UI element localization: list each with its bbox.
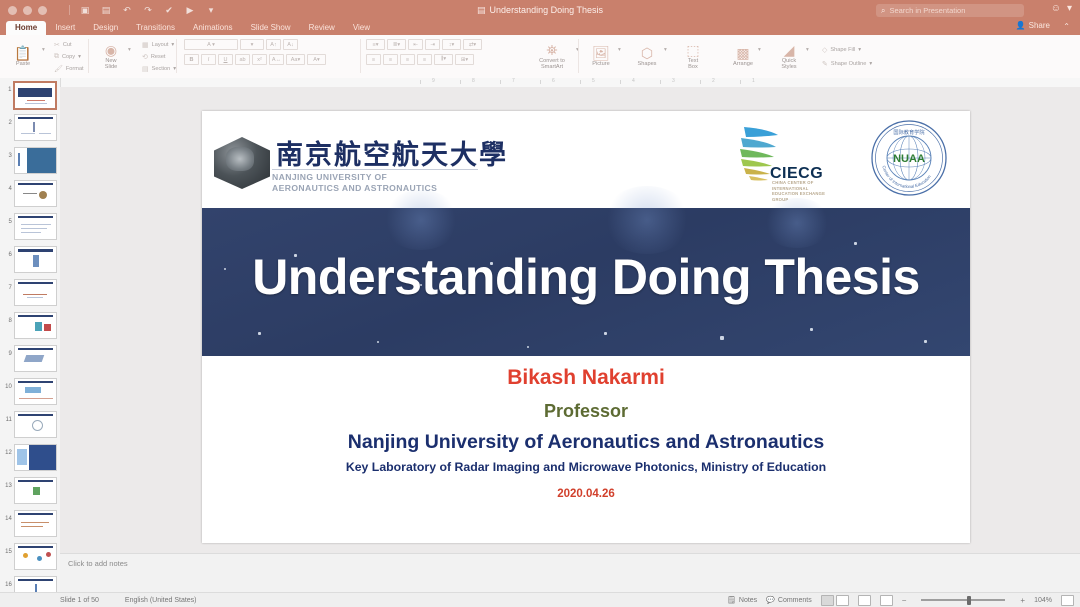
bullets-button[interactable]: ≡▾ — [366, 39, 385, 50]
ribbon-group-slides: ◉ New Slide ▾ ▦ Layout▾ ⟲ Reset ▤ Sectio… — [94, 35, 176, 78]
arrange-label: Arrange — [733, 61, 753, 67]
slide-thumbnail[interactable] — [14, 543, 57, 570]
slide-number: 1 — [3, 81, 11, 93]
format-painter-icon[interactable]: ✔ — [163, 4, 175, 16]
arrange-icon: ▩ — [736, 46, 749, 60]
arrange-button[interactable]: ▩ Arrange — [726, 46, 760, 67]
slide-thumbnail[interactable] — [14, 147, 57, 174]
powerpoint-window: ▣ ▤ ↶ ↷ ✔ ▶ ▾ ▤ Understanding Doing Thes… — [0, 0, 1080, 607]
tab-design[interactable]: Design — [84, 21, 127, 35]
slide-sorter-view-button[interactable] — [836, 595, 849, 606]
pen-icon: ✎ — [822, 60, 828, 68]
svg-text:国际教育学院: 国际教育学院 — [893, 128, 925, 136]
slide-title-banner: Understanding Doing Thesis — [202, 208, 970, 356]
ribbon-group-font: A ▾ ▾ A↑ A↓ B I U ab x² A↔ Aa▾ A▾ — [182, 39, 326, 75]
svg-text:NUAA: NUAA — [893, 153, 925, 165]
slide-number: 7 — [3, 279, 12, 291]
format-painter-button[interactable]: 🖌 Format — [54, 65, 84, 73]
character-spacing-button[interactable]: A↔ — [269, 54, 284, 65]
zoom-icon[interactable] — [38, 6, 47, 15]
shapes-button[interactable]: ⬡ Shapes — [630, 46, 664, 67]
zoom-level[interactable]: 104% — [1034, 597, 1052, 604]
document-title: Understanding Doing Thesis — [490, 5, 603, 15]
slide-thumbnail[interactable] — [14, 576, 57, 592]
slide-thumbnail[interactable] — [13, 81, 57, 110]
slide-number: 11 — [3, 411, 12, 423]
presentation-date: 2020.04.26 — [202, 488, 970, 500]
font-color-button[interactable]: A▾ — [307, 54, 326, 65]
author-role: Professor — [202, 401, 970, 422]
shapes-label: Shapes — [638, 61, 657, 67]
new-slide-button[interactable]: ◉ New Slide — [94, 43, 128, 71]
picture-dropdown-icon[interactable]: ▾ — [618, 47, 621, 53]
ribbon-body: 📋 Paste ▾ ✂ Cut ⧉ Copy▾ 🖌 Format — [0, 35, 1080, 79]
divider — [176, 39, 177, 73]
reading-view-button[interactable] — [858, 595, 871, 606]
ribbon-group-smartart: ⛯ Convert to SmartArt ▾ — [530, 35, 574, 78]
normal-view-button[interactable] — [821, 595, 834, 606]
tab-home[interactable]: Home — [6, 21, 46, 35]
reset-button[interactable]: ⟲ Reset — [142, 53, 176, 61]
decrease-indent-button[interactable]: ⇤ — [408, 39, 423, 50]
nuaa-english-line1: NANJING UNIVERSITY OF — [272, 172, 437, 183]
comments-label: Comments — [778, 597, 812, 604]
slide-author-block: Bikash Nakarmi Professor Nanjing Univers… — [202, 366, 970, 500]
share-icon: 👤 — [1016, 21, 1026, 30]
zoom-handle[interactable] — [967, 596, 971, 605]
zoom-in-button[interactable]: + — [1020, 596, 1025, 605]
text-box-button[interactable]: ⬚ Text Box — [676, 43, 710, 71]
slide-number: 15 — [3, 543, 12, 555]
list-item[interactable]: 5 — [0, 210, 60, 243]
slide-thumbnail[interactable] — [14, 246, 57, 273]
window-controls[interactable] — [8, 6, 47, 15]
divider — [360, 39, 361, 73]
brush-icon: 🖌 — [54, 65, 63, 73]
quick-styles-button[interactable]: ◢ Quick Styles — [772, 43, 806, 71]
slide-thumbnail[interactable] — [14, 411, 57, 438]
slide-canvas[interactable]: 南京航空航天大學 NANJING UNIVERSITY OF AERONAUTI… — [60, 87, 1080, 553]
font-size-select[interactable]: ▾ — [240, 39, 264, 50]
slide-thumbnail[interactable] — [14, 444, 57, 471]
slide-logo-header: 南京航空航天大學 NANJING UNIVERSITY OF AERONAUTI… — [202, 111, 970, 208]
fill-bucket-icon: ◇ — [822, 46, 827, 54]
list-item[interactable]: 4 — [0, 177, 60, 210]
list-item[interactable]: 6 — [0, 243, 60, 276]
presentation-icon: ▤ — [477, 5, 486, 16]
slide-number: 12 — [3, 444, 12, 456]
notes-label: Notes — [739, 597, 757, 604]
quick-styles-dropdown-icon[interactable]: ▾ — [806, 47, 809, 53]
underline-button[interactable]: U — [218, 54, 233, 65]
shape-fill-button[interactable]: ◇ Shape Fill▾ — [822, 46, 872, 54]
list-item[interactable]: 8 — [0, 309, 60, 342]
slide-number: 5 — [3, 213, 12, 225]
layout-icon: ▦ — [142, 41, 149, 49]
copy-button[interactable]: ⧉ Copy▾ — [54, 53, 84, 61]
columns-button[interactable]: ⫼▾ — [434, 54, 453, 65]
customize-icon[interactable]: ▾ — [205, 4, 217, 16]
account-icon[interactable]: ☺ — [1051, 3, 1061, 14]
strikethrough-button[interactable]: ab — [235, 54, 250, 65]
picture-icon: 🖼 — [592, 46, 610, 60]
share-label: Share — [1029, 21, 1050, 30]
author-university: Nanjing University of Aeronautics and As… — [202, 431, 970, 454]
divider — [69, 5, 70, 15]
quick-styles-label: Quick Styles — [781, 58, 796, 71]
cut-button[interactable]: ✂ Cut — [54, 41, 84, 49]
title-bar: ▣ ▤ ↶ ↷ ✔ ▶ ▾ ▤ Understanding Doing Thes… — [0, 0, 1080, 20]
bold-button[interactable]: B — [184, 54, 199, 65]
close-icon[interactable] — [8, 6, 17, 15]
zoom-track — [921, 599, 1005, 601]
ribbon-group-drawing: 🖼 Picture ▾ ⬡ Shapes ▾ ⬚ Text Box ▩ Arra… — [584, 35, 872, 78]
search-icon: ⌕ — [881, 6, 885, 16]
svg-text:Center of International Educat: Center of International Education — [881, 165, 932, 189]
slide-number: 14 — [3, 510, 12, 522]
status-bar: Slide 1 of 50 English (United States) 🗒 … — [0, 592, 1080, 607]
notes-placeholder[interactable]: Click to add notes — [68, 559, 128, 568]
divider — [88, 39, 89, 73]
decrease-font-button[interactable]: A↓ — [283, 39, 298, 50]
tab-animations[interactable]: Animations — [184, 21, 242, 35]
text-box-icon: ⬚ — [686, 43, 699, 57]
notes-button[interactable]: 🗒 Notes — [727, 596, 757, 604]
smartart-icon: ⛯ — [546, 43, 557, 57]
layout-label: Layout — [152, 42, 169, 48]
paste-icon: 📋 — [14, 46, 31, 60]
section-label: Section — [152, 66, 171, 72]
zoom-out-button[interactable]: − — [902, 596, 907, 605]
print-icon[interactable]: ▤ — [100, 4, 112, 16]
slideshow-view-button[interactable] — [880, 595, 893, 606]
slide-title: Understanding Doing Thesis — [202, 252, 970, 302]
comments-button[interactable]: 💬 Comments — [766, 596, 812, 604]
comment-icon: 💬 — [766, 596, 775, 604]
increase-indent-button[interactable]: ⇥ — [425, 39, 440, 50]
ribbon-tab-bar[interactable]: Home Insert Design Transitions Animation… — [0, 20, 1080, 35]
nuaa-chinese-name: 南京航空航天大學 — [276, 133, 508, 172]
list-item[interactable]: 2 — [0, 111, 60, 144]
nuaa-logo: 南京航空航天大學 NANJING UNIVERSITY OF AERONAUTI… — [214, 129, 480, 195]
arrange-dropdown-icon[interactable]: ▾ — [758, 47, 761, 53]
slide-thumbnail[interactable] — [14, 378, 57, 405]
slide-number: 6 — [3, 246, 12, 258]
list-item[interactable]: 3 — [0, 144, 60, 177]
justify-button[interactable]: ≡ — [417, 54, 432, 65]
list-item[interactable]: 1 — [0, 78, 60, 111]
slide-thumbnail[interactable] — [14, 312, 57, 339]
slide-thumbnail[interactable] — [14, 279, 57, 306]
list-item[interactable]: 15 — [0, 540, 60, 573]
slide-thumbnail[interactable] — [14, 510, 57, 537]
section-icon: ▤ — [142, 65, 149, 73]
picture-label: Picture — [592, 61, 609, 67]
align-text-button[interactable]: ⊞▾ — [455, 54, 474, 65]
slide-number: 4 — [3, 180, 12, 192]
slide-number: 9 — [3, 345, 12, 357]
change-case-button[interactable]: Aa▾ — [286, 54, 305, 65]
text-box-label: Text Box — [688, 58, 698, 71]
save-icon[interactable]: ▣ — [79, 4, 91, 16]
list-item[interactable]: 12 — [0, 441, 60, 474]
list-item[interactable]: 13 — [0, 474, 60, 507]
paste-dropdown-icon[interactable]: ▾ — [42, 47, 45, 53]
paste-label: Paste — [16, 61, 30, 67]
tab-view[interactable]: View — [344, 21, 379, 35]
slide-thumbnail[interactable] — [14, 477, 57, 504]
status-bar-right[interactable]: 🗒 Notes 💬 Comments − + 104% — [727, 593, 1074, 607]
notes-pane[interactable]: Click to add notes — [60, 553, 1080, 593]
shadow-button[interactable]: x² — [252, 54, 267, 65]
shapes-dropdown-icon[interactable]: ▾ — [664, 47, 667, 53]
scissors-icon: ✂ — [54, 41, 60, 49]
section-button[interactable]: ▤ Section▾ — [142, 65, 176, 73]
align-center-button[interactable]: ≡ — [383, 54, 398, 65]
reset-icon: ⟲ — [142, 53, 148, 61]
view-buttons[interactable] — [821, 595, 849, 606]
nuaa-seal-icon: NUAA Center of International Education 国… — [870, 119, 948, 197]
paste-button[interactable]: 📋 Paste — [6, 46, 40, 67]
layout-button[interactable]: ▦ Layout▾ — [142, 41, 176, 49]
shapes-icon: ⬡ — [641, 46, 653, 60]
language-indicator[interactable]: English (United States) — [125, 597, 197, 604]
quick-styles-icon: ◢ — [784, 43, 795, 57]
increase-font-button[interactable]: A↑ — [266, 39, 281, 50]
numbering-button[interactable]: ≣▾ — [387, 39, 406, 50]
tab-slide-show[interactable]: Slide Show — [242, 21, 300, 35]
slide-number: 10 — [3, 378, 12, 390]
reset-label: Reset — [151, 54, 166, 60]
tab-review[interactable]: Review — [300, 21, 344, 35]
list-item[interactable]: 16 — [0, 573, 60, 592]
italic-button[interactable]: I — [201, 54, 216, 65]
author-lab: Key Laboratory of Radar Imaging and Micr… — [202, 460, 970, 474]
notes-icon: 🗒 — [727, 596, 736, 604]
nuaa-emblem-icon — [214, 137, 270, 189]
list-item[interactable]: 10 — [0, 375, 60, 408]
undo-icon[interactable]: ↶ — [121, 4, 133, 16]
minimize-icon[interactable] — [23, 6, 32, 15]
fit-slide-icon[interactable] — [1061, 595, 1074, 606]
line-spacing-button[interactable]: ↕▾ — [442, 39, 461, 50]
shape-outline-label: Shape Outline — [831, 61, 866, 67]
align-left-button[interactable]: ≡ — [366, 54, 381, 65]
zoom-slider[interactable] — [915, 596, 1011, 605]
list-item[interactable]: 14 — [0, 507, 60, 540]
divider — [578, 39, 579, 73]
ribbon-group-clipboard: 📋 Paste ▾ ✂ Cut ⧉ Copy▾ 🖌 Format — [6, 35, 84, 78]
copy-label: Copy — [62, 54, 75, 60]
chevron-down-icon[interactable]: ▾ — [1067, 3, 1072, 14]
picture-button[interactable]: 🖼 Picture — [584, 46, 618, 67]
ribbon-group-paragraph: ≡▾ ≣▾ ⇤ ⇥ ↕▾ ⇄▾ ≡ ≡ ≡ ≡ ⫼▾ ⊞▾ — [366, 39, 482, 75]
smartart-label: Convert to SmartArt — [539, 58, 565, 71]
new-slide-dropdown-icon[interactable]: ▾ — [128, 47, 131, 53]
font-family-select[interactable]: A ▾ — [184, 39, 238, 50]
slide-counter: Slide 1 of 50 — [60, 597, 99, 604]
copy-icon: ⧉ — [54, 53, 59, 61]
format-label: Format — [66, 66, 84, 72]
convert-to-smartart-button[interactable]: ⛯ Convert to SmartArt — [530, 43, 574, 71]
divider — [272, 169, 478, 170]
slide-thumbnail-pane[interactable]: 1 2 3 4 — [0, 78, 61, 592]
shape-outline-button[interactable]: ✎ Shape Outline▾ — [822, 60, 872, 68]
new-slide-label: New Slide — [105, 58, 117, 71]
slide-thumbnail[interactable] — [14, 180, 57, 207]
current-slide[interactable]: 南京航空航天大學 NANJING UNIVERSITY OF AERONAUTI… — [202, 111, 970, 543]
text-direction-button[interactable]: ⇄▾ — [463, 39, 482, 50]
list-item[interactable]: 11 — [0, 408, 60, 441]
slide-number: 2 — [3, 114, 12, 126]
ciecg-logo: CIECG CHINA CENTER OF INTERNATIONAL EDUC… — [736, 121, 828, 199]
slide-thumbnail[interactable] — [14, 114, 57, 141]
start-slideshow-icon[interactable]: ▶ — [184, 4, 196, 16]
tab-transitions[interactable]: Transitions — [127, 21, 184, 35]
slide-number: 3 — [3, 147, 12, 159]
new-slide-icon: ◉ — [105, 43, 117, 57]
align-right-button[interactable]: ≡ — [400, 54, 415, 65]
list-item[interactable]: 7 — [0, 276, 60, 309]
list-item[interactable]: 9 — [0, 342, 60, 375]
collapse-ribbon-button[interactable]: ⌃ — [1063, 22, 1070, 31]
slide-number: 16 — [3, 576, 12, 588]
slide-number: 8 — [3, 312, 12, 324]
share-button[interactable]: 👤 Share — [1016, 21, 1050, 30]
shape-fill-label: Shape Fill — [830, 47, 855, 53]
titlebar-right-actions[interactable]: ☺ ▾ — [1051, 3, 1072, 14]
author-name: Bikash Nakarmi — [202, 366, 970, 390]
cut-label: Cut — [63, 42, 72, 48]
redo-icon[interactable]: ↷ — [142, 4, 154, 16]
slide-number: 13 — [3, 477, 12, 489]
tab-insert[interactable]: Insert — [46, 21, 84, 35]
quick-access-toolbar[interactable]: ▣ ▤ ↶ ↷ ✔ ▶ ▾ — [69, 4, 217, 16]
slide-thumbnail[interactable] — [14, 345, 57, 372]
search-placeholder: Search in Presentation — [889, 6, 965, 15]
search-input[interactable]: ⌕ Search in Presentation — [876, 4, 1024, 17]
slide-thumbnail[interactable] — [14, 213, 57, 240]
